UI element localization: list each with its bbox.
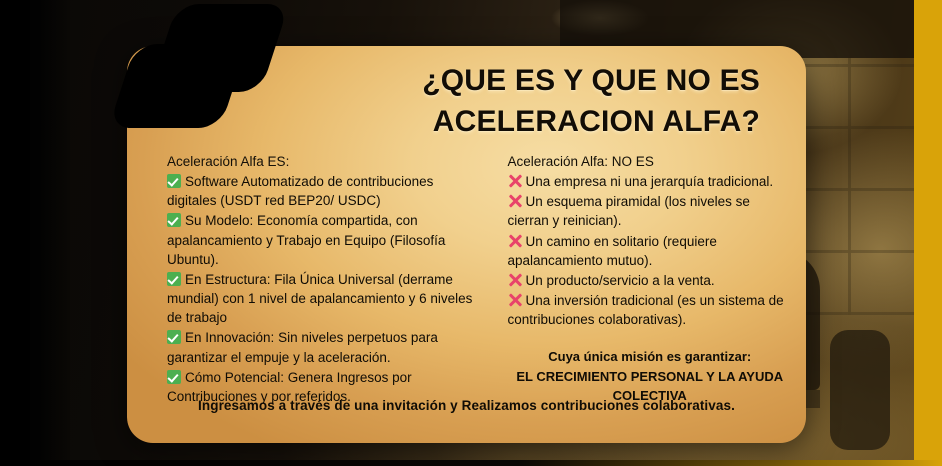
content-card: ¿QUE ES Y QUE NO ES ACELERACION ALFA? Ac…: [127, 46, 806, 443]
list-item-text: En Estructura: Fila Única Universal (der…: [167, 272, 472, 325]
frame-bottom-border: [0, 460, 942, 466]
list-item: En Innovación: Sin niveles perpetuos par…: [167, 328, 480, 366]
cross-mark-icon: [508, 234, 522, 248]
comparison-columns: Aceleración Alfa ES: Software Automatiza…: [127, 152, 806, 407]
column-es: Aceleración Alfa ES: Software Automatiza…: [167, 152, 480, 407]
background-equipment-secondary: [830, 330, 890, 450]
mission-line-1: Cuya única misión es garantizar:: [508, 347, 793, 367]
list-item-text: Un producto/servicio a la venta.: [526, 273, 715, 288]
frame-right-border: [914, 0, 942, 466]
list-item-text: Un esquema piramidal (los niveles se cie…: [508, 194, 750, 228]
list-item-text: Una inversión tradicional (es un sistema…: [508, 293, 784, 327]
list-item: Un producto/servicio a la venta.: [508, 271, 793, 290]
cross-mark-icon: [508, 293, 522, 307]
check-mark-icon: [167, 272, 181, 286]
check-mark-icon: [167, 213, 181, 227]
column-no-es: Aceleración Alfa: NO ES Una empresa ni u…: [480, 152, 793, 407]
list-item: Software Automatizado de contribuciones …: [167, 172, 480, 210]
poster-stage: ¿QUE ES Y QUE NO ES ACELERACION ALFA? Ac…: [0, 0, 942, 466]
list-item: Su Modelo: Economía compartida, con apal…: [167, 211, 480, 268]
list-item: Un camino en solitario (requiere apalanc…: [508, 232, 793, 270]
list-item-text: Una empresa ni una jerarquía tradicional…: [526, 174, 774, 189]
check-mark-icon: [167, 330, 181, 344]
mission-line-2: EL CRECIMIENTO PERSONAL Y LA AYUDA: [508, 367, 793, 387]
frame-left-border: [0, 0, 30, 466]
list-item: Una inversión tradicional (es un sistema…: [508, 291, 793, 329]
column-es-heading: Aceleración Alfa ES:: [167, 152, 480, 171]
cross-mark-icon: [508, 194, 522, 208]
check-mark-icon: [167, 370, 181, 384]
list-item: Un esquema piramidal (los niveles se cie…: [508, 192, 793, 230]
list-item: Una empresa ni una jerarquía tradicional…: [508, 172, 793, 191]
cross-mark-icon: [508, 174, 522, 188]
cross-mark-icon: [508, 273, 522, 287]
list-item-text: Software Automatizado de contribuciones …: [167, 174, 433, 208]
footer-text: Ingresamos a través de una invitación y …: [127, 398, 806, 413]
list-item: En Estructura: Fila Única Universal (der…: [167, 270, 480, 327]
column-no-es-heading: Aceleración Alfa: NO ES: [508, 152, 793, 171]
check-mark-icon: [167, 174, 181, 188]
list-item-text: Su Modelo: Economía compartida, con apal…: [167, 213, 445, 266]
list-item-text: Un camino en solitario (requiere apalanc…: [508, 234, 717, 268]
list-item-text: En Innovación: Sin niveles perpetuos par…: [167, 330, 438, 364]
